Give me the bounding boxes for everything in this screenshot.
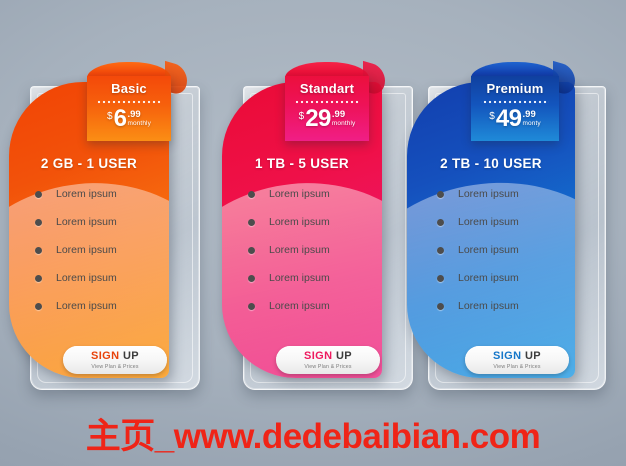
perforation-divider <box>481 100 549 104</box>
bullet-icon <box>248 191 255 198</box>
bullet-icon <box>35 247 42 254</box>
pricing-table-background: 2 GB - 1 USER Lorem ipsum Lorem ipsum Lo… <box>0 0 626 466</box>
plan-name: Standart <box>285 81 369 96</box>
list-item: Lorem ipsum <box>437 188 575 200</box>
list-item: Lorem ipsum <box>35 244 169 256</box>
list-item: Lorem ipsum <box>35 300 169 312</box>
plan-name: Premium <box>471 81 559 96</box>
ribbon-body: Basic $ 6 .99 monthly <box>87 76 171 141</box>
feature-label: Lorem ipsum <box>56 188 117 200</box>
sign-up-label: SIGN UP <box>493 351 541 362</box>
sign-up-label-primary: SIGN <box>304 350 333 362</box>
sign-up-label-secondary: UP <box>123 350 139 362</box>
price-amount: 29 <box>305 107 331 131</box>
list-item: Lorem ipsum <box>248 216 382 228</box>
sign-up-label-secondary: UP <box>525 350 541 362</box>
site-watermark: 主页_www.dedebaibian.com <box>0 408 626 459</box>
list-item: Lorem ipsum <box>437 300 575 312</box>
ribbon-body: Premium $ 49 .99 monty <box>471 76 559 141</box>
list-item: Lorem ipsum <box>248 272 382 284</box>
sign-up-button[interactable]: SIGN UP View Plan & Prices <box>63 346 167 374</box>
pricing-card-premium[interactable]: 2 TB - 10 USER Lorem ipsum Lorem ipsum L… <box>428 86 604 388</box>
feature-label: Lorem ipsum <box>458 188 519 200</box>
list-item: Lorem ipsum <box>35 188 169 200</box>
price-period: monty <box>523 121 541 128</box>
plan-price: $ 29 .99 monthly <box>285 107 369 135</box>
sign-up-button[interactable]: SIGN UP View Plan & Prices <box>465 346 569 374</box>
list-item: Lorem ipsum <box>437 244 575 256</box>
bullet-icon <box>437 303 444 310</box>
list-item: Lorem ipsum <box>248 188 382 200</box>
sign-up-label-secondary: UP <box>336 350 352 362</box>
plan-price: $ 6 .99 monthly <box>87 107 171 135</box>
price-cents: .99 <box>523 110 536 120</box>
bullet-icon <box>35 303 42 310</box>
price-period: monthly <box>127 121 150 128</box>
bullet-icon <box>248 219 255 226</box>
list-item: Lorem ipsum <box>248 300 382 312</box>
price-fraction-group: .99 monty <box>523 119 541 135</box>
feature-label: Lorem ipsum <box>269 272 330 284</box>
pricing-card-basic[interactable]: 2 GB - 1 USER Lorem ipsum Lorem ipsum Lo… <box>30 86 198 388</box>
pricing-card-standart[interactable]: 1 TB - 5 USER Lorem ipsum Lorem ipsum Lo… <box>243 86 411 388</box>
price-currency: $ <box>489 112 495 122</box>
bullet-icon <box>248 275 255 282</box>
feature-label: Lorem ipsum <box>56 216 117 228</box>
plan-capacity-label: 2 GB - 1 USER <box>9 156 169 171</box>
plan-capacity-label: 1 TB - 5 USER <box>222 156 382 171</box>
price-cents: .99 <box>127 110 140 120</box>
feature-label: Lorem ipsum <box>458 244 519 256</box>
list-item: Lorem ipsum <box>35 216 169 228</box>
feature-label: Lorem ipsum <box>56 300 117 312</box>
price-currency: $ <box>107 112 113 122</box>
plan-capacity-label: 2 TB - 10 USER <box>407 156 575 171</box>
bullet-icon <box>248 303 255 310</box>
sign-up-label: SIGN UP <box>304 351 352 362</box>
feature-label: Lorem ipsum <box>458 216 519 228</box>
feature-label: Lorem ipsum <box>269 216 330 228</box>
bullet-icon <box>35 219 42 226</box>
list-item: Lorem ipsum <box>437 216 575 228</box>
feature-label: Lorem ipsum <box>56 272 117 284</box>
price-amount: 49 <box>496 107 522 131</box>
bullet-icon <box>437 191 444 198</box>
price-cents: .99 <box>332 110 345 120</box>
sign-up-sublabel: View Plan & Prices <box>304 364 351 370</box>
bullet-icon <box>248 247 255 254</box>
feature-label: Lorem ipsum <box>458 300 519 312</box>
feature-list: Lorem ipsum Lorem ipsum Lorem ipsum Lore… <box>222 188 382 312</box>
bullet-icon <box>35 275 42 282</box>
sign-up-sublabel: View Plan & Prices <box>91 364 138 370</box>
sign-up-label-primary: SIGN <box>91 350 120 362</box>
sign-up-label-primary: SIGN <box>493 350 522 362</box>
bullet-icon <box>437 275 444 282</box>
bullet-icon <box>35 191 42 198</box>
feature-label: Lorem ipsum <box>269 300 330 312</box>
bullet-icon <box>437 247 444 254</box>
feature-label: Lorem ipsum <box>269 188 330 200</box>
price-period: monthly <box>332 121 355 128</box>
feature-list: Lorem ipsum Lorem ipsum Lorem ipsum Lore… <box>407 188 575 312</box>
plan-price: $ 49 .99 monty <box>471 107 559 135</box>
plan-name: Basic <box>87 81 171 96</box>
feature-label: Lorem ipsum <box>458 272 519 284</box>
list-item: Lorem ipsum <box>248 244 382 256</box>
price-amount: 6 <box>114 107 127 131</box>
ribbon-body: Standart $ 29 .99 monthly <box>285 76 369 141</box>
sign-up-label: SIGN UP <box>91 351 139 362</box>
feature-label: Lorem ipsum <box>56 244 117 256</box>
perforation-divider <box>295 100 359 104</box>
sign-up-button[interactable]: SIGN UP View Plan & Prices <box>276 346 380 374</box>
price-currency: $ <box>299 112 305 122</box>
bullet-icon <box>437 219 444 226</box>
perforation-divider <box>97 100 161 104</box>
sign-up-sublabel: View Plan & Prices <box>493 364 540 370</box>
list-item: Lorem ipsum <box>437 272 575 284</box>
list-item: Lorem ipsum <box>35 272 169 284</box>
price-fraction-group: .99 monthly <box>332 119 355 135</box>
feature-label: Lorem ipsum <box>269 244 330 256</box>
price-fraction-group: .99 monthly <box>127 119 150 135</box>
feature-list: Lorem ipsum Lorem ipsum Lorem ipsum Lore… <box>9 188 169 312</box>
